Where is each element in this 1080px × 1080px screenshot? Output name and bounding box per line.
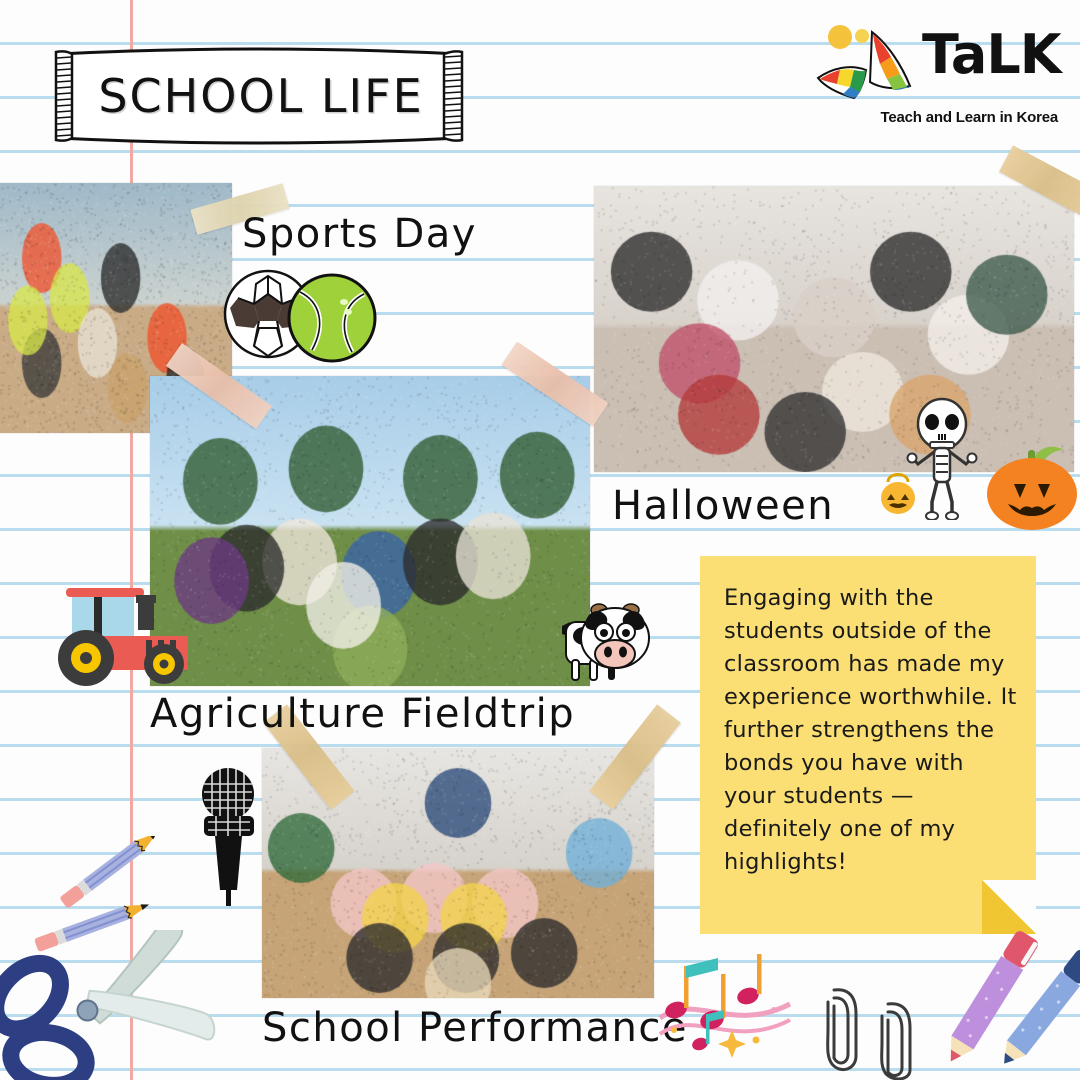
pumpkin-bucket-icon [876, 468, 920, 516]
photo-halloween [594, 186, 1074, 472]
talk-wordmark: TaLK [922, 28, 1061, 82]
paper-rule-line [0, 150, 1080, 153]
quote-text: Engaging with the students outside of th… [724, 582, 1020, 879]
caption-sports-day: Sports Day [242, 214, 477, 254]
pumpkin-icon [984, 436, 1080, 532]
tractor-icon [38, 578, 198, 688]
talk-rainbow-book-icon [810, 24, 928, 104]
page-title-banner: SCHOOL LIFE [36, 42, 480, 150]
talk-tagline: Teach and Learn in Korea [881, 109, 1058, 126]
caption-performance: School Performance [262, 1008, 688, 1048]
microphone-icon [196, 762, 266, 908]
music-notes-icon [656, 948, 796, 1058]
quote-sticky-note: Engaging with the students outside of th… [700, 556, 1036, 934]
scrapbook-page: SCHOOL LIFE TaLK Teach and Learn in Kore… [0, 0, 1080, 1080]
scissors-icon [0, 930, 222, 1080]
photo-agriculture-fieldtrip [150, 376, 590, 686]
tennis-ball-icon [286, 272, 378, 364]
paperclips-icon [820, 984, 940, 1080]
caption-agriculture: Agriculture Fieldtrip [150, 694, 575, 734]
caption-halloween: Halloween [612, 486, 834, 526]
colored-pens-icon [934, 914, 1080, 1080]
page-title: SCHOOL LIFE [36, 42, 480, 150]
talk-logo: TaLK Teach and Learn in Korea [810, 22, 1060, 128]
cow-icon [552, 586, 672, 686]
